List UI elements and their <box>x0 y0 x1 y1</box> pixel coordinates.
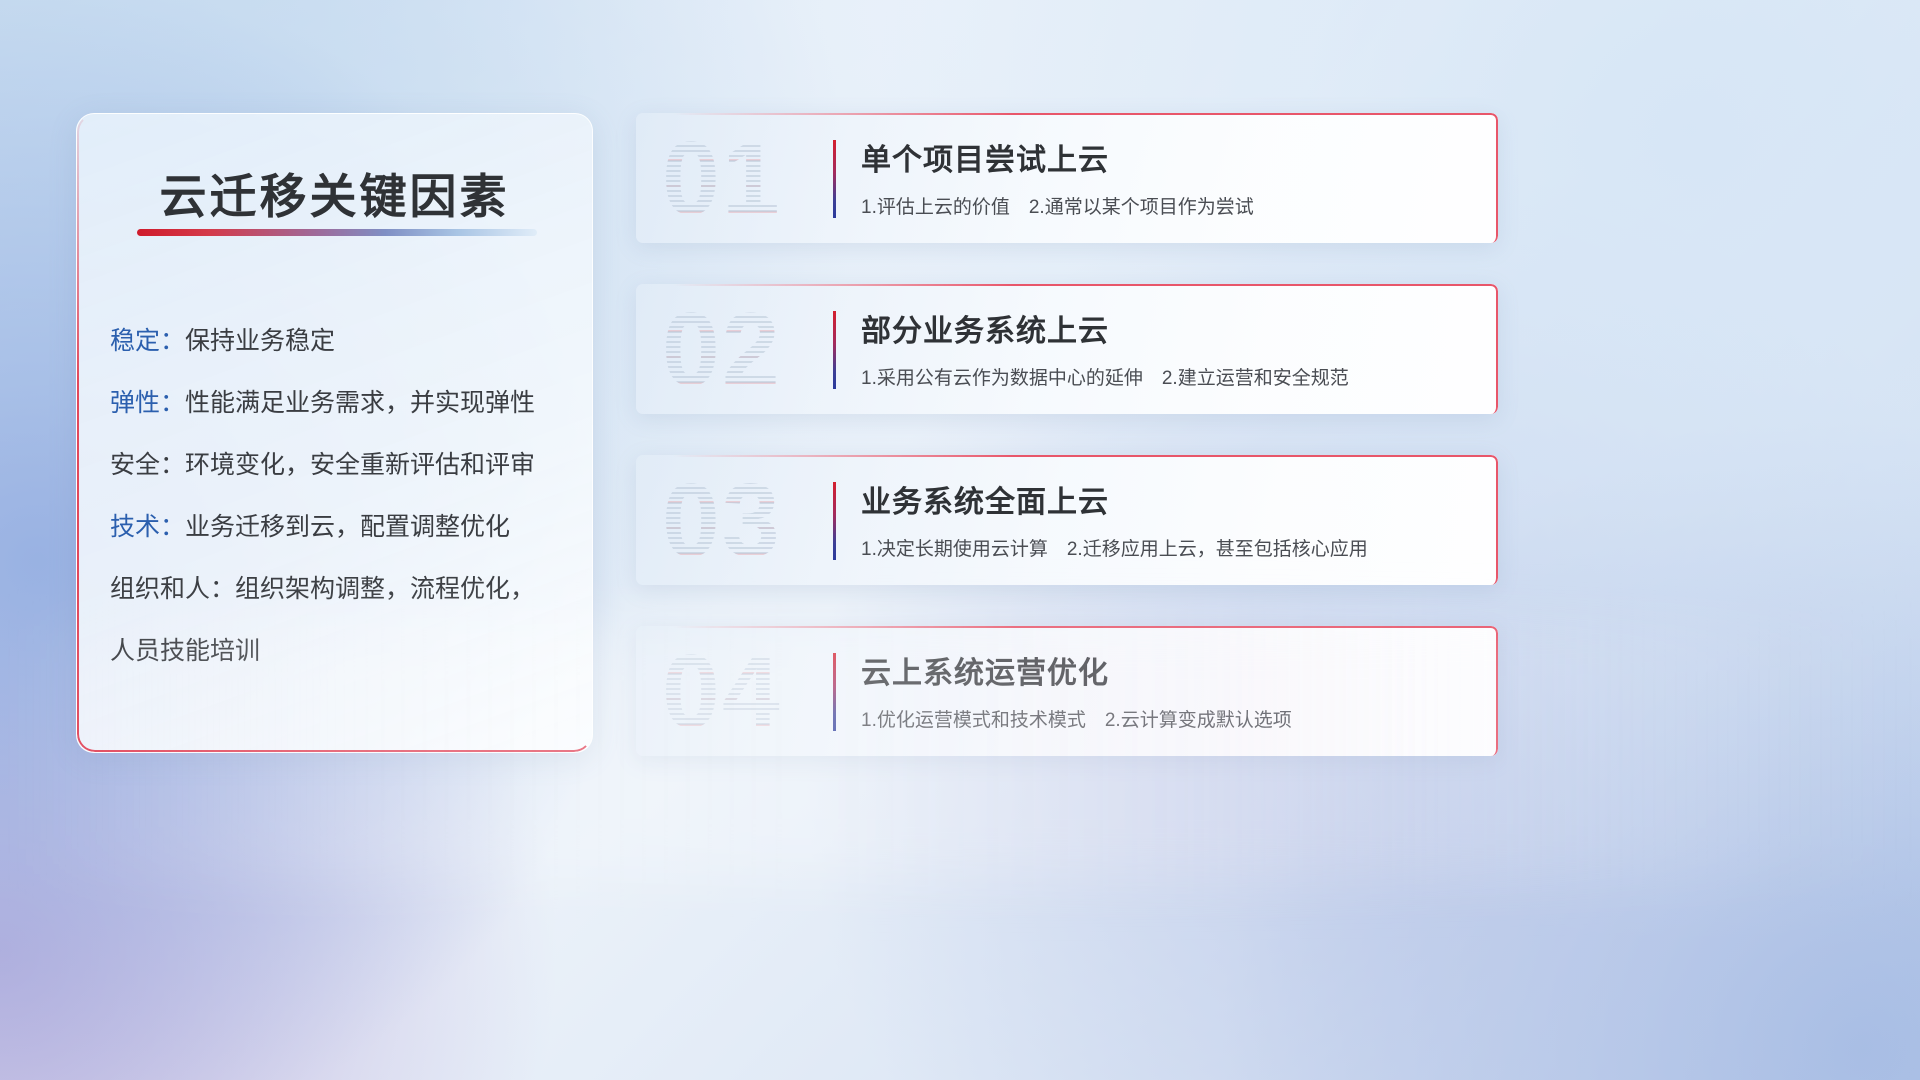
step-subtitle: 1.采用公有云作为数据中心的延伸 2.建立运营和安全规范 <box>861 363 1482 390</box>
factor-value: 性能满足业务需求，并实现弹性 <box>185 389 535 417</box>
step-accent-bar <box>833 482 836 560</box>
step-subtitle: 1.决定长期使用云计算 2.迁移应用上云，甚至包括核心应用 <box>861 534 1482 561</box>
factor-item: 安全：环境变化，安全重新评估和评审 <box>110 434 574 496</box>
factor-value: 保持业务稳定 <box>185 327 335 355</box>
factor-label: 技术： <box>110 513 185 541</box>
factor-item-continuation: 人员技能培训 <box>110 620 574 682</box>
title-underline-rule <box>137 229 537 236</box>
step-card[interactable]: 01 01 单个项目尝试上云 1.评估上云的价值 2.通常以某个项目作为尝试 <box>636 113 1498 243</box>
step-title: 业务系统全面上云 <box>861 477 1482 521</box>
step-title: 部分业务系统上云 <box>861 306 1482 350</box>
step-title: 单个项目尝试上云 <box>861 135 1482 179</box>
step-subtitle: 1.评估上云的价值 2.通常以某个项目作为尝试 <box>861 192 1482 219</box>
factor-item: 技术：业务迁移到云，配置调整优化 <box>110 496 574 558</box>
step-text-block: 业务系统全面上云 1.决定长期使用云计算 2.迁移应用上云，甚至包括核心应用 <box>861 477 1482 561</box>
factor-label: 弹性： <box>110 389 185 417</box>
step-number-ghost: 01 <box>662 125 842 233</box>
factor-label: 稳定： <box>110 327 185 355</box>
step-accent-bar <box>833 311 836 389</box>
step-accent-bar <box>833 140 836 218</box>
step-number-ghost: 04 <box>662 638 842 746</box>
step-number-ghost: 03 <box>662 467 842 575</box>
factor-list: 稳定：保持业务稳定 弹性：性能满足业务需求，并实现弹性 安全：环境变化，安全重新… <box>110 310 574 682</box>
step-subtitle: 1.优化运营模式和技术模式 2.云计算变成默认选项 <box>861 705 1482 732</box>
step-title: 云上系统运营优化 <box>861 648 1482 692</box>
factor-label: 组织和人： <box>110 575 235 603</box>
step-card[interactable]: 02 02 部分业务系统上云 1.采用公有云作为数据中心的延伸 2.建立运营和安… <box>636 284 1498 414</box>
step-card[interactable]: 04 04 云上系统运营优化 1.优化运营模式和技术模式 2.云计算变成默认选项 <box>636 626 1498 756</box>
step-number-ghost: 02 <box>662 296 842 404</box>
factor-value: 业务迁移到云，配置调整优化 <box>185 513 510 541</box>
factor-label: 安全： <box>110 451 185 479</box>
key-factors-panel: 云迁移关键因素 稳定：保持业务稳定 弹性：性能满足业务需求，并实现弹性 安全：环… <box>76 113 593 753</box>
step-text-block: 单个项目尝试上云 1.评估上云的价值 2.通常以某个项目作为尝试 <box>861 135 1482 219</box>
factor-value: 人员技能培训 <box>110 637 260 665</box>
step-text-block: 部分业务系统上云 1.采用公有云作为数据中心的延伸 2.建立运营和安全规范 <box>861 306 1482 390</box>
factor-value: 环境变化，安全重新评估和评审 <box>185 451 535 479</box>
slide-canvas: 云迁移关键因素 稳定：保持业务稳定 弹性：性能满足业务需求，并实现弹性 安全：环… <box>0 0 1920 1080</box>
factor-item: 稳定：保持业务稳定 <box>110 310 574 372</box>
factor-value: 组织架构调整，流程优化， <box>235 575 535 603</box>
factor-item: 组织和人：组织架构调整，流程优化， <box>110 558 574 620</box>
migration-steps-list: 01 01 单个项目尝试上云 1.评估上云的价值 2.通常以某个项目作为尝试 0… <box>636 113 1498 756</box>
step-card[interactable]: 03 03 业务系统全面上云 1.决定长期使用云计算 2.迁移应用上云，甚至包括… <box>636 455 1498 585</box>
factor-item: 弹性：性能满足业务需求，并实现弹性 <box>110 372 574 434</box>
step-accent-bar <box>833 653 836 731</box>
page-title: 云迁移关键因素 <box>77 158 592 227</box>
step-text-block: 云上系统运营优化 1.优化运营模式和技术模式 2.云计算变成默认选项 <box>861 648 1482 732</box>
